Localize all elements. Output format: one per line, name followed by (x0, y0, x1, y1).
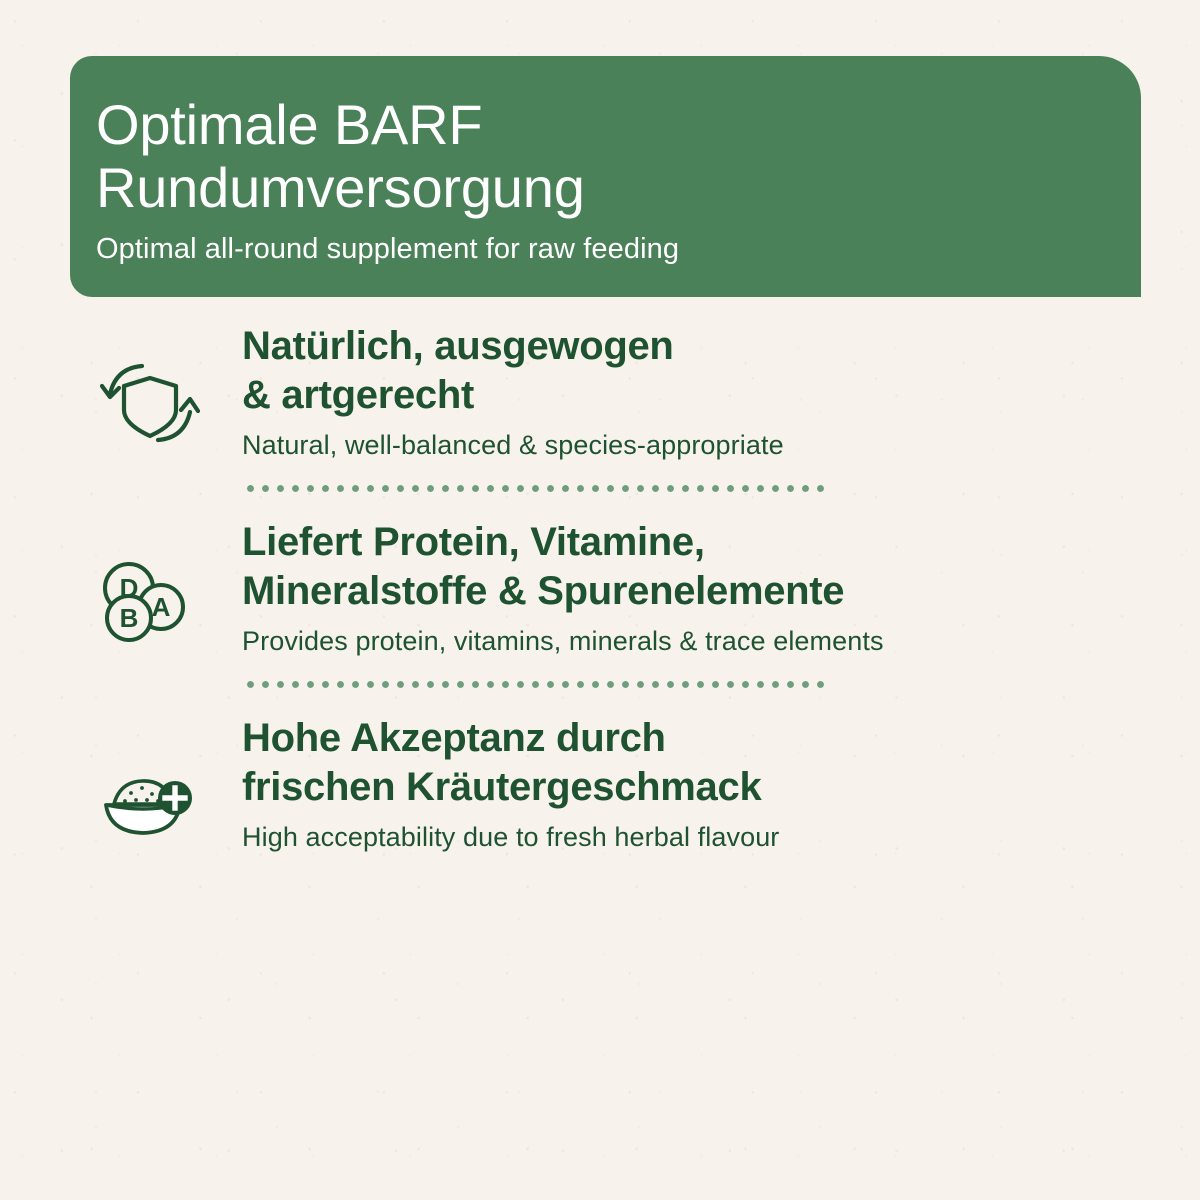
feature-list: Natürlich, ausgewogen & artgerecht Natur… (0, 320, 1200, 853)
vitamin-letter-b: B (120, 603, 139, 633)
feature-text-block: Liefert Protein, Vitamine, Mineralstoffe… (202, 516, 884, 657)
feature-heading: Natürlich, ausgewogen & artgerecht (242, 322, 784, 420)
feature-heading: Hohe Akzeptanz durch frischen Kräuterges… (242, 714, 779, 812)
banner-title: Optimale BARF Rundumversorgung (96, 94, 1141, 219)
feature-heading: Liefert Protein, Vitamine, Mineralstoffe… (242, 518, 884, 616)
dotted-divider (243, 681, 826, 688)
feature-subtitle: High acceptability due to fresh herbal f… (242, 821, 779, 853)
feature-row: D B A Liefert Protein, Vitamine, Mineral… (0, 516, 1200, 657)
feature-icon-wrapper: D B A (98, 516, 202, 644)
feature-row: Natürlich, ausgewogen & artgerecht Natur… (0, 320, 1200, 461)
vitamin-letter-d: D (120, 573, 139, 603)
feature-subtitle: Provides protein, vitamins, minerals & t… (242, 625, 884, 657)
food-bowl-plus-icon (98, 774, 198, 842)
feature-icon-wrapper (98, 320, 202, 446)
feature-text-block: Hohe Akzeptanz durch frischen Kräuterges… (202, 712, 779, 853)
banner-subtitle: Optimal all-round supplement for raw fee… (96, 232, 1141, 267)
vitamin-letter-a: A (152, 592, 171, 622)
feature-subtitle: Natural, well-balanced & species-appropr… (242, 429, 784, 461)
header-banner: Optimale BARF Rundumversorgung Optimal a… (70, 56, 1141, 297)
shield-refresh-icon (98, 354, 202, 446)
feature-text-block: Natürlich, ausgewogen & artgerecht Natur… (202, 320, 784, 461)
feature-row: Hohe Akzeptanz durch frischen Kräuterges… (0, 712, 1200, 853)
feature-icon-wrapper (98, 712, 202, 842)
dotted-divider (243, 485, 826, 492)
vitamins-dba-circles-icon: D B A (98, 560, 190, 644)
